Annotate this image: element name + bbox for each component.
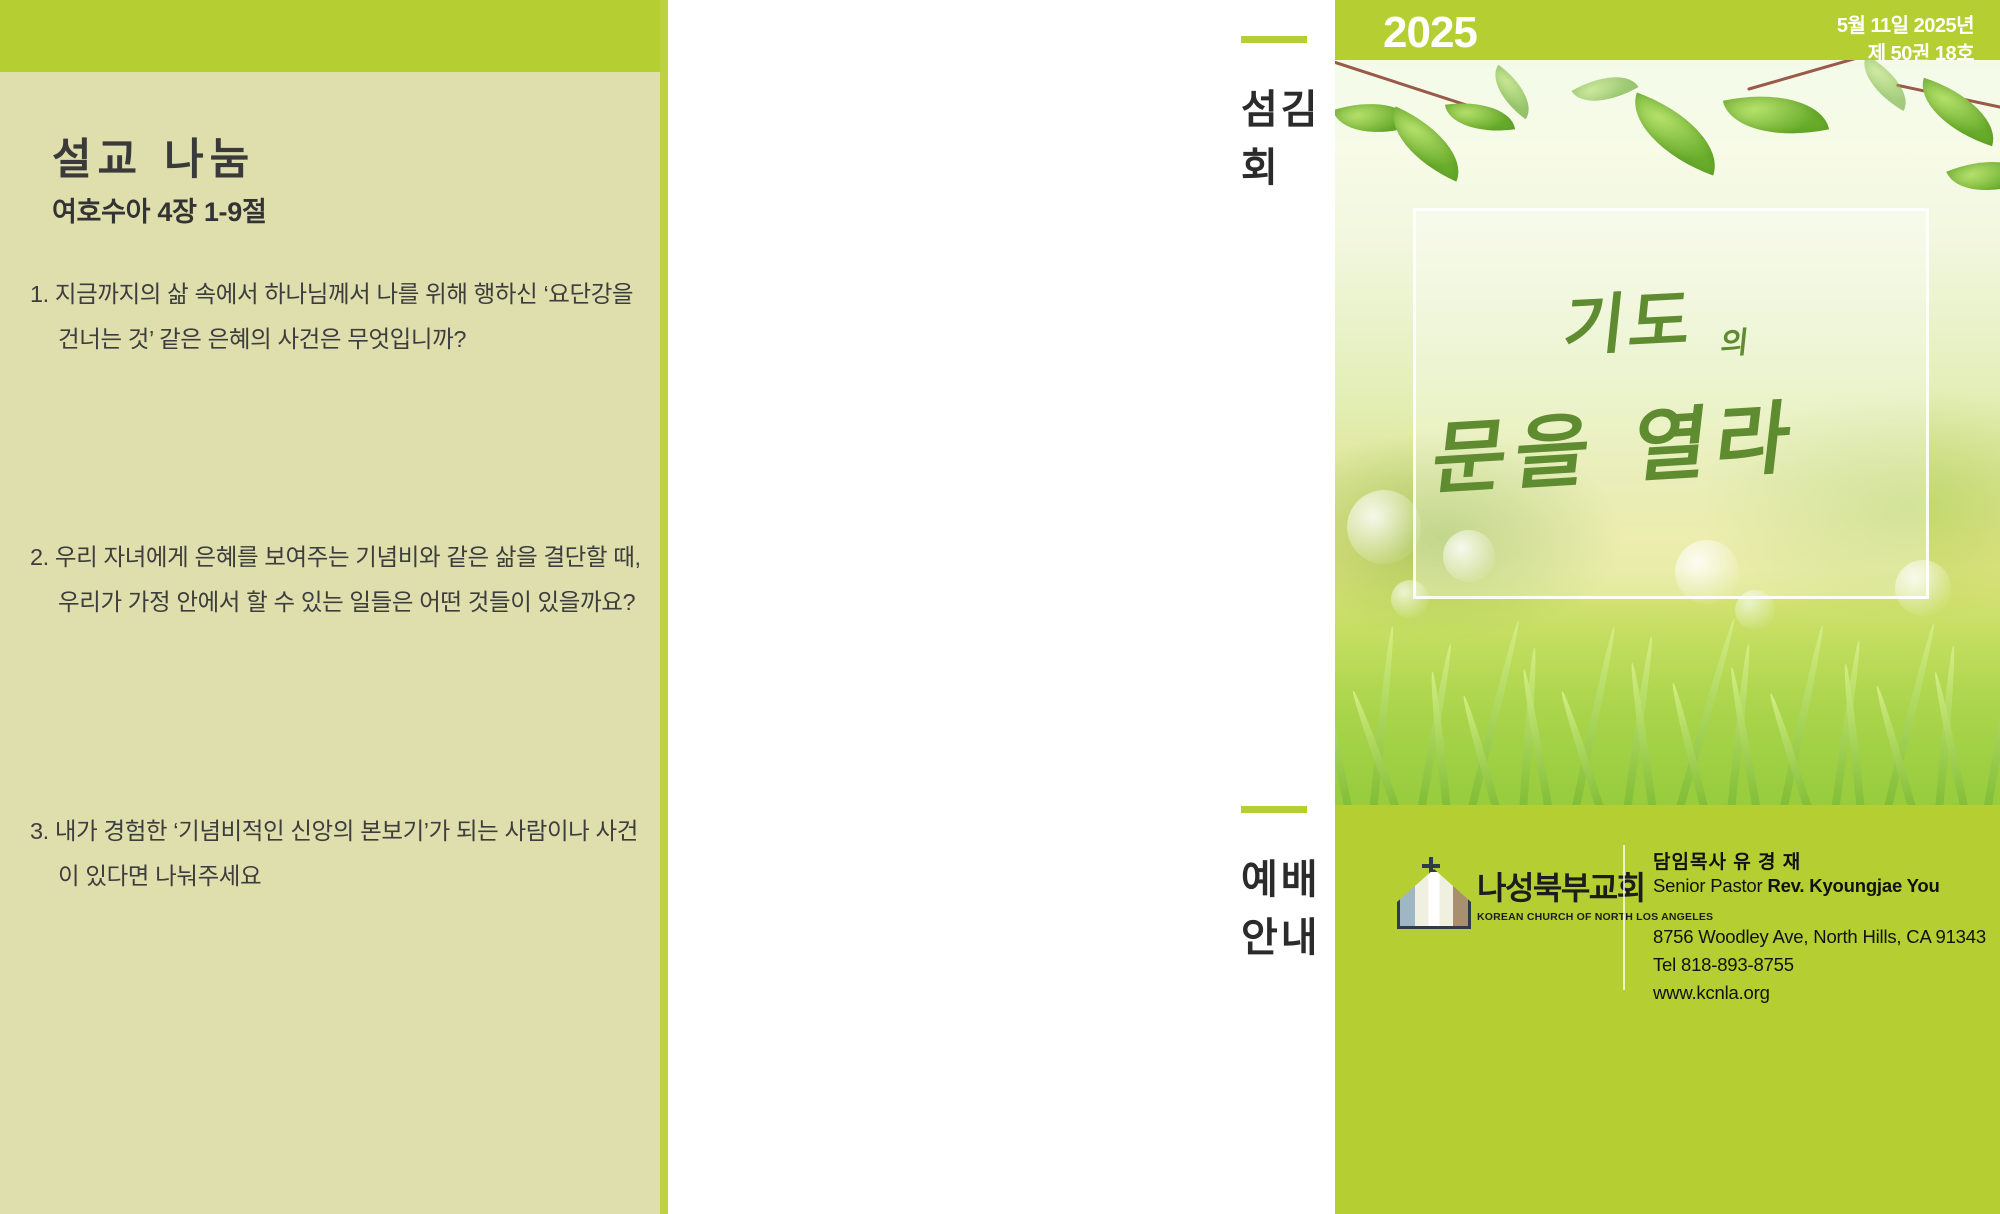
footer-divider — [1623, 845, 1625, 990]
calligraphy-particle: 의 — [1719, 318, 1751, 363]
question-spacer-2 — [30, 625, 650, 785]
left-panel-top-bar — [0, 0, 668, 72]
pastor-name-english: Senior Pastor Rev. Kyoungjae You — [1653, 875, 1986, 897]
sermon-sharing-title: 설교 나눔 — [52, 125, 255, 187]
middle-content-panel: 섬김회 섬김회 후원선교사 섬김회 후원선교사 뉴라이트 신승희 김명희 김죠슈… — [668, 0, 1335, 1214]
sermon-question-2: 2. 우리 자녀에게 은혜를 보여주는 기념비와 같은 삶을 결단할 때, 우리… — [30, 535, 650, 625]
twig-decor — [1747, 60, 1873, 91]
church-footer: 나성북부교회 KOREAN CHURCH OF NORTH LOS ANGELE… — [1335, 805, 2000, 1214]
sermon-question-3: 3. 내가 경험한 ‘기념비적인 신앙의 본보기’가 되는 사람이나 사건이 있… — [30, 809, 650, 899]
sermon-scripture-reference: 여호수아 4장 1-9절 — [52, 190, 266, 229]
church-roof-shape — [1397, 869, 1471, 929]
issue-date: 5월 11일 2025년 — [1837, 12, 1974, 40]
pastor-fullname-english: Rev. Kyoungjae You — [1767, 875, 1939, 896]
cross-icon-horizontal — [1422, 864, 1440, 868]
calligraphy-line-1: 기도 — [1559, 267, 1700, 370]
cover-year: 2025 — [1383, 8, 1477, 58]
cover-panel: 2025 5월 11일 2025년 제 50권 18호 — [1335, 0, 2000, 1214]
worship-rule — [1241, 806, 1307, 813]
sermon-question-1: 1. 지금까지의 삶 속에서 하나님께서 나를 위해 행하신 ‘요단강을 건너는… — [30, 272, 650, 362]
calligraphy-line-2: 문을 열라 — [1427, 373, 1806, 511]
pastor-title-english: Senior Pastor — [1653, 875, 1762, 896]
worship-heading: 예배안내 — [1241, 847, 1335, 963]
bokeh-decor — [1347, 490, 1421, 564]
bulletin-page: 설교 나눔 여호수아 4장 1-9절 1. 지금까지의 삶 속에서 하나님께서 … — [0, 0, 2000, 1214]
church-address: 8756 Woodley Ave, North Hills, CA 91343 — [1653, 923, 1986, 951]
calligraphy-title: 기도 의 문을 열라 — [1413, 208, 1923, 593]
left-panel-edge-stripe — [660, 0, 668, 1214]
pastor-name-korean: 담임목사 유 경 재 — [1653, 847, 1986, 874]
seomgimhoe-rule — [1241, 36, 1307, 43]
church-phone: Tel 818-893-8755 — [1653, 951, 1986, 979]
leaf-icon — [1619, 92, 1731, 175]
leaf-icon — [1910, 78, 2000, 146]
question-spacer-1 — [30, 362, 650, 512]
leaf-icon — [1572, 61, 1639, 117]
seomgimhoe-heading: 섬김회 — [1241, 77, 1335, 193]
church-contact-info: 담임목사 유 경 재 Senior Pastor Rev. Kyoungjae … — [1653, 847, 1986, 1006]
church-website[interactable]: www.kcnla.org — [1653, 979, 1986, 1007]
church-address-block: 8756 Woodley Ave, North Hills, CA 91343 … — [1653, 923, 1986, 1006]
church-building-icon — [1397, 857, 1465, 929]
leaf-icon — [1723, 80, 1829, 149]
leaf-icon — [1946, 143, 2000, 209]
grass-band — [1335, 570, 2000, 805]
sermon-sharing-panel: 설교 나눔 여호수아 4장 1-9절 1. 지금까지의 삶 속에서 하나님께서 … — [0, 0, 668, 1214]
cover-photo: 기도 의 문을 열라 — [1335, 60, 2000, 805]
sermon-question-list: 1. 지금까지의 삶 속에서 하나님께서 나를 위해 행하신 ‘요단강을 건너는… — [30, 248, 650, 899]
twig-decor — [1335, 60, 1472, 108]
